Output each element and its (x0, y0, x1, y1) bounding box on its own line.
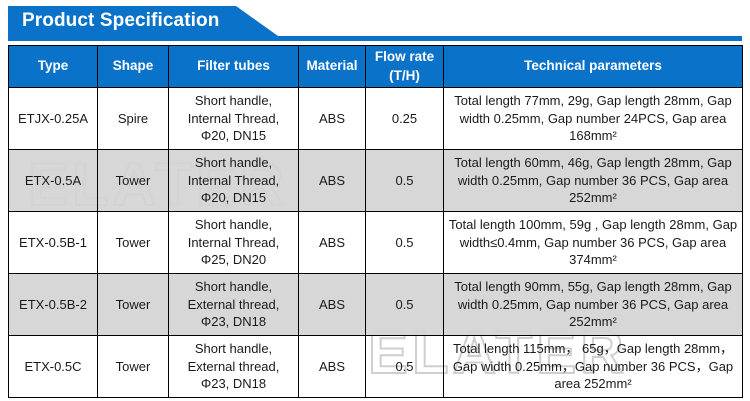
specification-table-container: Type Shape Filter tubes Material Flow ra… (8, 45, 742, 398)
cell-technical-parameters: Total length 100mm, 59g , Gap length 28m… (444, 212, 743, 274)
cell-flow-rate: 0.5 (366, 212, 444, 274)
cell-filter-tubes: Short handle, External thread, Φ23, DN18 (169, 274, 299, 336)
cell-shape: Spire (98, 88, 169, 150)
column-header-technical-parameters: Technical parameters (444, 46, 743, 88)
cell-type: ETX-0.5A (9, 150, 98, 212)
cell-material: ABS (299, 150, 366, 212)
cell-shape: Tower (98, 212, 169, 274)
cell-material: ABS (299, 212, 366, 274)
column-header-type: Type (9, 46, 98, 88)
cell-material: ABS (299, 336, 366, 398)
cell-shape: Tower (98, 336, 169, 398)
table-row: ETX-0.5B-1TowerShort handle, Internal Th… (9, 212, 743, 274)
column-header-shape: Shape (98, 46, 169, 88)
column-header-flow-rate: Flow rate (T/H) (366, 46, 444, 88)
cell-technical-parameters: Total length 115mm， 65g，Gap length 28mm，… (444, 336, 743, 398)
cell-shape: Tower (98, 150, 169, 212)
cell-technical-parameters: Total length 77mm, 29g, Gap length 28mm,… (444, 88, 743, 150)
table-header: Type Shape Filter tubes Material Flow ra… (9, 46, 743, 88)
cell-flow-rate: 0.25 (366, 88, 444, 150)
cell-filter-tubes: Short handle, Internal Thread, Φ20, DN15 (169, 88, 299, 150)
column-header-filter-tubes: Filter tubes (169, 46, 299, 88)
table-header-row: Type Shape Filter tubes Material Flow ra… (9, 46, 743, 88)
cell-technical-parameters: Total length 60mm, 46g, Gap length 28mm,… (444, 150, 743, 212)
banner-underline-rule (8, 36, 742, 41)
flow-rate-label: Flow rate (375, 49, 434, 64)
table-row: ETX-0.5ATowerShort handle, Internal Thre… (9, 150, 743, 212)
cell-type: ETJX-0.25A (9, 88, 98, 150)
page-title: Product Specification (22, 6, 219, 36)
page-banner: Product Specification (8, 6, 742, 42)
table-row: ETX-0.5CTowerShort handle, External thre… (9, 336, 743, 398)
specification-table: Type Shape Filter tubes Material Flow ra… (8, 45, 743, 398)
cell-type: ETX-0.5C (9, 336, 98, 398)
cell-material: ABS (299, 88, 366, 150)
column-header-material: Material (299, 46, 366, 88)
table-row: ETJX-0.25ASpireShort handle, Internal Th… (9, 88, 743, 150)
cell-shape: Tower (98, 274, 169, 336)
cell-filter-tubes: Short handle, Internal Thread, Φ20, DN15 (169, 150, 299, 212)
flow-rate-unit: (T/H) (389, 68, 420, 83)
cell-flow-rate: 0.5 (366, 150, 444, 212)
cell-filter-tubes: Short handle, Internal Thread, Φ25, DN20 (169, 212, 299, 274)
table-body: ETJX-0.25ASpireShort handle, Internal Th… (9, 88, 743, 398)
cell-flow-rate: 0.5 (366, 336, 444, 398)
table-row: ETX-0.5B-2TowerShort handle, External th… (9, 274, 743, 336)
cell-type: ETX-0.5B-1 (9, 212, 98, 274)
page-root: Product Specification ELATER ELATER Type… (0, 0, 750, 401)
cell-filter-tubes: Short handle, External thread, Φ23, DN18 (169, 336, 299, 398)
cell-technical-parameters: Total length 90mm, 55g, Gap length 28mm,… (444, 274, 743, 336)
cell-flow-rate: 0.5 (366, 274, 444, 336)
cell-material: ABS (299, 274, 366, 336)
cell-type: ETX-0.5B-2 (9, 274, 98, 336)
